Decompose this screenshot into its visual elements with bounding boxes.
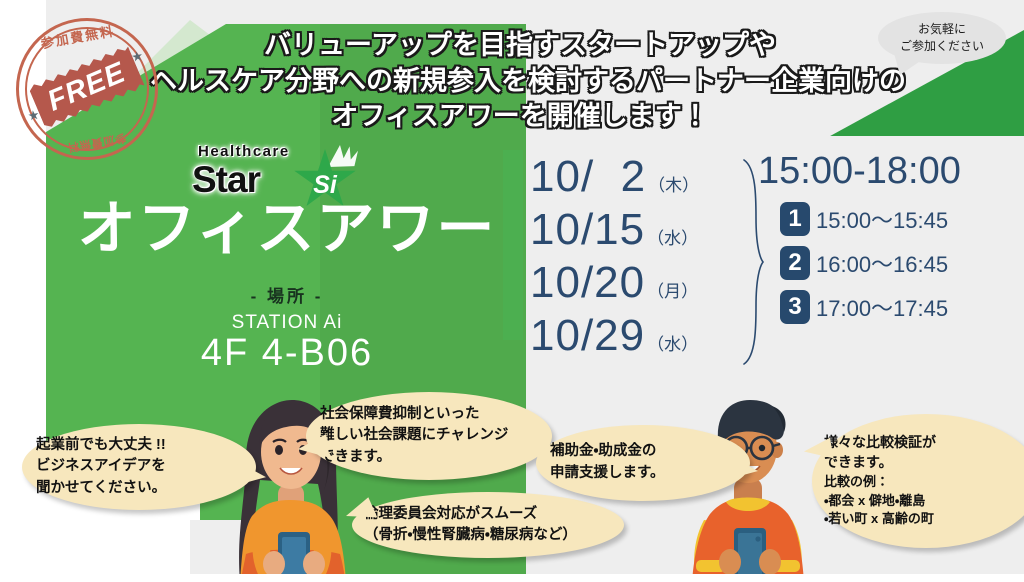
place-label: - 場所 -: [52, 282, 522, 307]
bubble-line: ・若い町 x 高齢の町: [824, 510, 1024, 528]
date-value: 10/ 2: [530, 152, 646, 202]
bubble-line: 起業前でも大丈夫 !!: [36, 435, 242, 456]
slot-number-badge: 2: [780, 246, 810, 280]
page-title: オフィスアワー: [52, 200, 522, 258]
join-badge-line-1: お気軽に: [918, 21, 966, 38]
date-row: 10/ 2 （木）: [530, 152, 699, 205]
background-white-bottom-margin: [0, 574, 1024, 582]
date-weekday: （水）: [647, 330, 698, 355]
logo-healthcare-text: Healthcare: [198, 143, 290, 160]
bubble-line: 様々な比較検証が: [824, 433, 1024, 453]
time-slot: 2 16:00〜16:45: [780, 246, 961, 280]
date-weekday: （水）: [647, 224, 698, 249]
speech-bubble-subsidy: 補助金・助成金の 申請支援します。: [536, 425, 750, 501]
bubble-line: 比較の例：: [824, 473, 1024, 491]
date-value: 10/29: [530, 311, 645, 361]
venue-room: 4F 4-B06: [52, 332, 522, 375]
bubble-line: 難しい社会課題にチャレンジ: [320, 425, 538, 446]
speech-bubble-startup: 起業前でも大丈夫 !! ビジネスアイデアを 聞かせてください。: [22, 424, 256, 510]
bubble-line: ・都会 x 僻地・離島: [824, 492, 1024, 510]
speech-tail: [296, 434, 329, 462]
join-invitation-badge: お気軽に ご参加ください: [878, 12, 1006, 64]
bubble-line: 補助金・助成金の: [550, 441, 736, 463]
speech-tail: [729, 457, 760, 483]
date-list: 10/ 2 （木） 10/15 （水） 10/20 （月） 10/29 （水）: [530, 152, 699, 364]
speech-bubble-ethics-committee: 倫理委員会対応がスムーズ （骨折・慢性腎臓病・糖尿病など）: [352, 492, 624, 558]
star-icon: ★: [27, 107, 41, 125]
slot-time: 17:00〜17:45: [816, 291, 948, 323]
date-value: 10/15: [530, 205, 645, 255]
bubble-line: 申請支援します。: [550, 463, 736, 485]
venue-name: STATION Ai: [52, 312, 522, 334]
bubble-line: できます。: [320, 447, 538, 468]
headline-line-2: ヘルスケア分野への新規参入を検討するパートナー企業向けの: [150, 64, 890, 100]
flyer-canvas: 参加費無料 FREE 参加費無料 ★ ★ バリューアップを目指すスタートアップや…: [0, 0, 1024, 582]
headline: バリューアップを目指すスタートアップや ヘルスケア分野への新規参入を検討するパー…: [150, 28, 890, 135]
join-badge-line-2: ご参加ください: [900, 38, 984, 55]
bubble-line: 社会保障費抑制といった: [320, 404, 538, 425]
bubble-line: 聞かせてください。: [36, 478, 242, 499]
date-row: 10/20 （月）: [530, 258, 699, 311]
time-schedule: 15:00-18:00 1 15:00〜15:45 2 16:00〜16:45 …: [758, 152, 961, 334]
slot-time: 15:00〜15:45: [816, 203, 948, 235]
date-weekday: （木）: [648, 171, 699, 196]
headline-line-1: バリューアップを目指すスタートアップや: [150, 28, 890, 64]
date-value: 10/20: [530, 258, 645, 308]
date-row: 10/29 （水）: [530, 311, 699, 364]
speech-bubble-social-challenge: 社会保障費抑制といった 難しい社会課題にチャレンジ できます。: [306, 392, 552, 480]
bubble-line: （骨折・慢性腎臓病・糖尿病など）: [364, 525, 612, 546]
slot-number-badge: 3: [780, 290, 810, 324]
speech-tail: [234, 462, 267, 490]
slot-time: 16:00〜16:45: [816, 247, 948, 279]
logo-star-text: Star: [192, 159, 260, 201]
date-weekday: （月）: [647, 277, 698, 302]
bubble-line: 倫理委員会対応がスムーズ: [364, 504, 612, 525]
bubble-line: できます。: [824, 453, 1024, 473]
bubble-line: ビジネスアイデアを: [36, 456, 242, 477]
sparkle-icon: [328, 145, 358, 167]
headline-line-3: オフィスアワーを開催します！: [150, 99, 890, 135]
speech-bubble-comparison: 様々な比較検証が できます。 比較の例： ・都会 x 僻地・離島 ・若い町 x …: [812, 414, 1024, 548]
time-range: 15:00-18:00: [758, 152, 961, 190]
free-stamp: 参加費無料 FREE 参加費無料 ★ ★: [5, 7, 170, 172]
time-slot: 3 17:00〜17:45: [780, 290, 961, 324]
date-row: 10/15 （水）: [530, 205, 699, 258]
slot-number-badge: 1: [780, 202, 810, 236]
time-slot: 1 15:00〜15:45: [780, 202, 961, 236]
star-icon: ★: [130, 48, 144, 66]
